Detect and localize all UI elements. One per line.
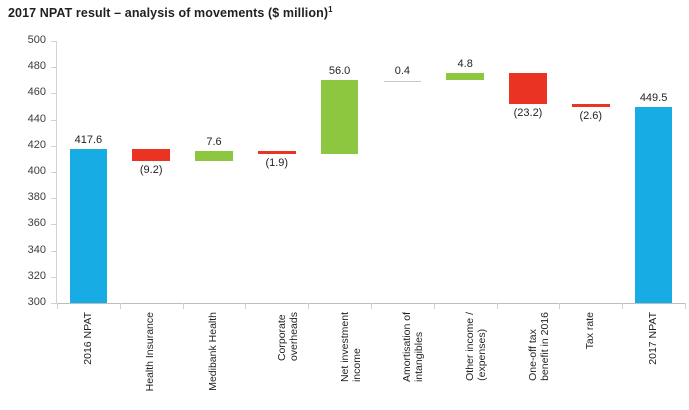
x-axis-category-label: One-off tax benefit in 2016 — [528, 312, 551, 381]
chart-title: 2017 NPAT result – analysis of movements… — [8, 5, 333, 20]
x-axis-category-label: Tax rate — [585, 312, 597, 349]
bar-value-label: 7.6 — [183, 136, 246, 148]
x-axis-tick-mark — [622, 303, 623, 309]
y-axis-tick-label: 500 — [0, 34, 46, 46]
bar-value-label: 0.4 — [371, 65, 434, 77]
bar-down — [132, 149, 170, 161]
bar-up — [321, 80, 359, 153]
y-axis-tick-label: 380 — [0, 191, 46, 203]
y-axis-tick-mark — [51, 146, 57, 147]
x-axis-category-label: Corporate overheads — [277, 312, 300, 361]
y-axis-tick-mark — [51, 224, 57, 225]
bar-up — [195, 151, 233, 161]
bar-value-label: (1.9) — [245, 157, 308, 169]
y-axis-tick-label: 460 — [0, 86, 46, 98]
waterfall-chart: 2017 NPAT result – analysis of movements… — [0, 0, 689, 410]
y-axis-tick-label: 400 — [0, 165, 46, 177]
x-axis-category-label: Medibank Health — [208, 312, 220, 391]
bar-value-label: 56.0 — [308, 65, 371, 77]
chart-title-footnote-marker: 1 — [328, 5, 333, 14]
y-axis-tick-mark — [51, 198, 57, 199]
y-axis-tick-mark — [51, 67, 57, 68]
x-axis-tick-mark — [120, 303, 121, 309]
bar-value-label: (23.2) — [497, 107, 560, 119]
chart-title-text: 2017 NPAT result – analysis of movements… — [8, 6, 328, 20]
bar-flat — [384, 81, 422, 82]
bar-value-label: (2.6) — [559, 110, 622, 122]
y-axis-tick-mark — [51, 277, 57, 278]
y-axis-tick-mark — [51, 120, 57, 121]
bar-value-label: 4.8 — [434, 58, 497, 70]
x-axis-tick-mark — [559, 303, 560, 309]
bar-value-label: 417.6 — [57, 134, 120, 146]
x-axis-tick-mark — [497, 303, 498, 309]
x-axis-category-label: Other income / (expenses) — [465, 312, 488, 381]
y-axis-tick-label: 480 — [0, 60, 46, 72]
bar-total — [635, 107, 673, 303]
y-axis-tick-mark — [51, 41, 57, 42]
x-axis-category-label: 2017 NPAT — [648, 312, 660, 365]
y-axis-tick-label: 340 — [0, 244, 46, 256]
x-axis-tick-mark — [245, 303, 246, 309]
y-axis-tick-mark — [51, 172, 57, 173]
x-axis-tick-mark — [371, 303, 372, 309]
bar-down — [572, 104, 610, 107]
x-axis-category-label: Net investment income — [340, 312, 363, 382]
x-axis-tick-mark — [57, 303, 58, 309]
y-axis-tick-mark — [51, 93, 57, 94]
y-axis-tick-label: 440 — [0, 113, 46, 125]
y-axis-tick-label: 360 — [0, 217, 46, 229]
y-axis-tick-mark — [51, 251, 57, 252]
y-axis-tick-label: 300 — [0, 296, 46, 308]
x-axis-tick-mark — [434, 303, 435, 309]
x-axis-tick-mark — [308, 303, 309, 309]
bar-up — [446, 73, 484, 79]
x-axis-category-label: Amortisation of intangibles — [402, 312, 425, 382]
y-axis-tick-label: 420 — [0, 139, 46, 151]
y-axis-tick-label: 320 — [0, 270, 46, 282]
bar-value-label: 449.5 — [622, 92, 685, 104]
bar-value-label: (9.2) — [120, 164, 183, 176]
bar-down — [509, 73, 547, 103]
x-axis-tick-mark — [685, 303, 686, 309]
bar-total — [70, 149, 108, 303]
x-axis-category-label: 2016 NPAT — [83, 312, 95, 365]
x-axis-category-label: Health Insurance — [145, 312, 157, 391]
bar-down — [258, 151, 296, 154]
x-axis-tick-mark — [183, 303, 184, 309]
